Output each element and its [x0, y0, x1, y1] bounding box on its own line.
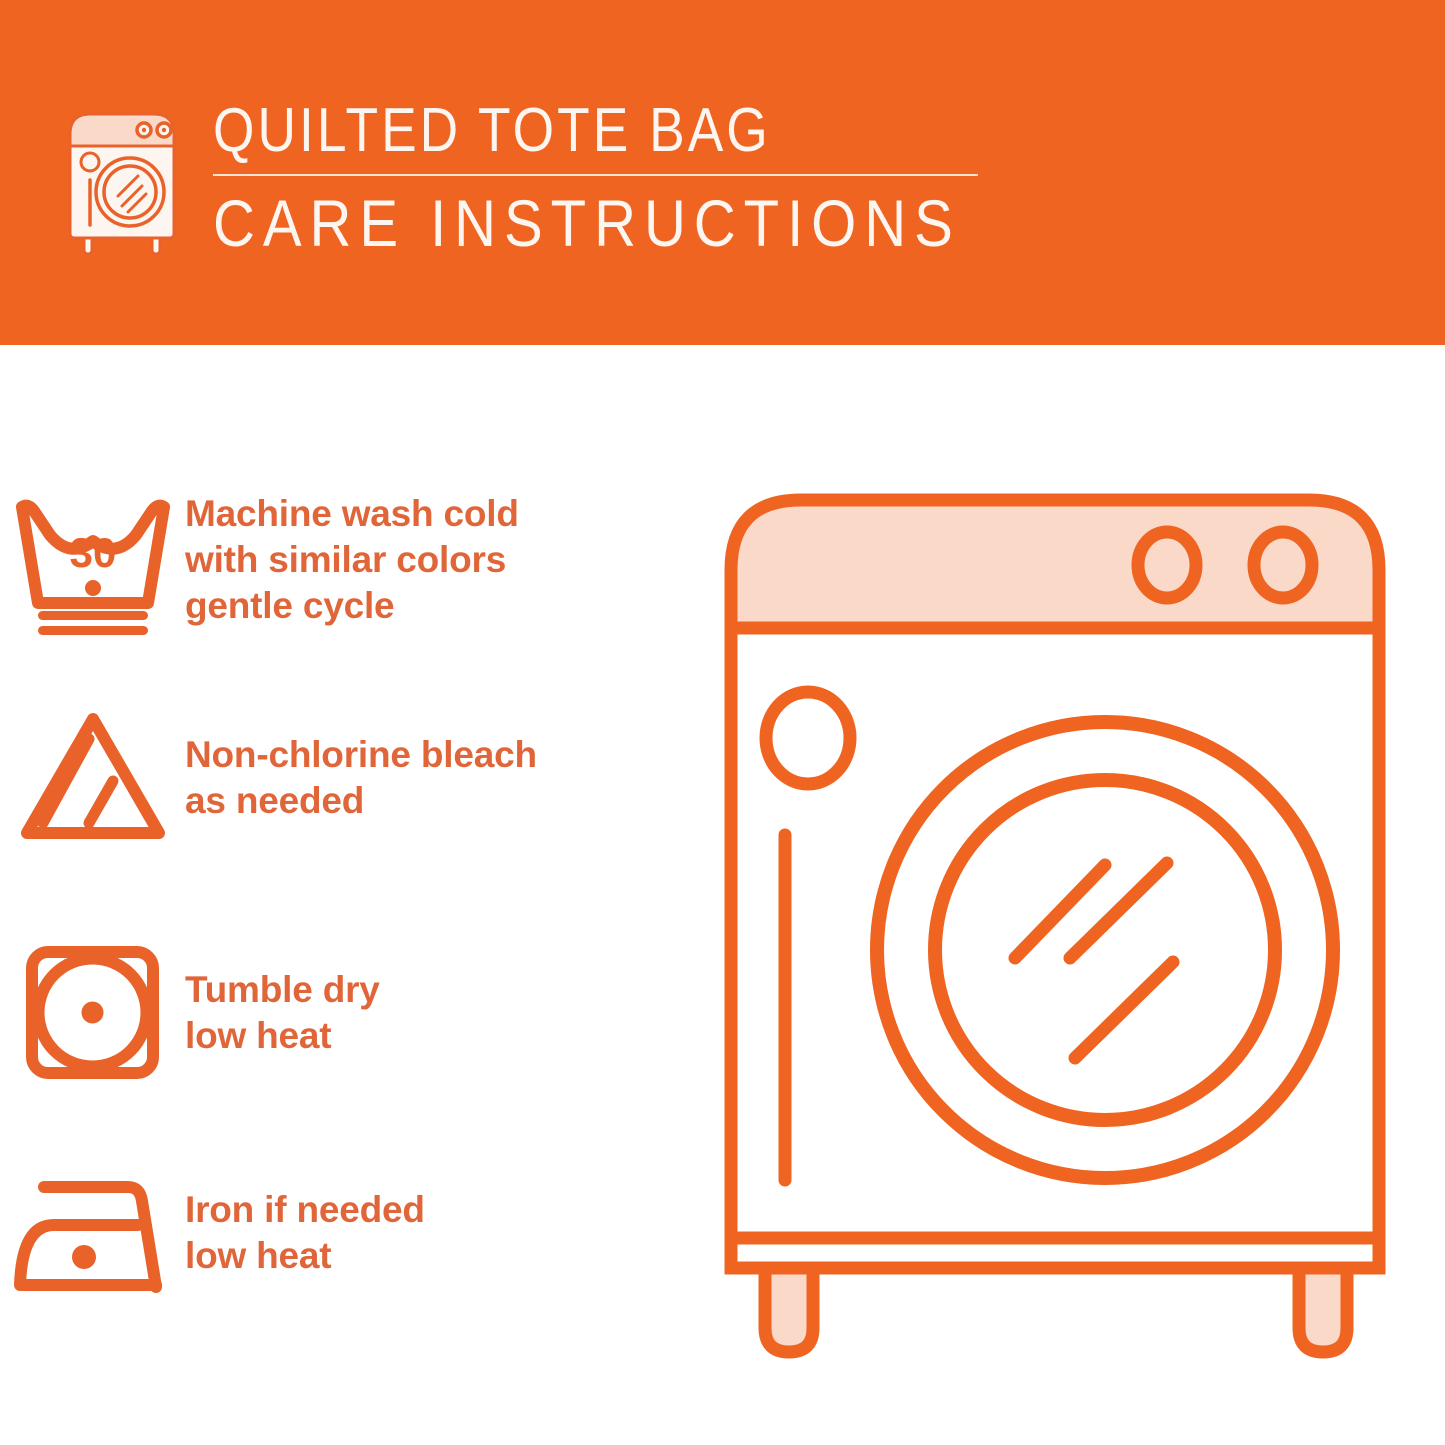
washing-machine-icon — [62, 100, 182, 255]
title-divider — [213, 174, 978, 176]
iron-low-heat-icon — [0, 1165, 185, 1300]
wash-tub-30-gentle-icon: 30 — [0, 485, 185, 635]
instruction-label-wash: Machine wash cold with similar colors ge… — [185, 491, 519, 629]
non-chlorine-bleach-triangle-icon — [0, 705, 185, 850]
instruction-row-wash: 30 Machine wash cold with similar colors… — [0, 485, 700, 635]
instruction-label-bleach: Non-chlorine bleach as needed — [185, 732, 537, 824]
front-load-washing-machine-illustration — [715, 480, 1395, 1370]
page-subtitle: CARE INSTRUCTIONS — [213, 186, 891, 260]
instruction-row-iron: Iron if needed low heat — [0, 1165, 700, 1300]
instruction-label-tumble-dry: Tumble dry low heat — [185, 967, 380, 1059]
care-instructions-page: QUILTED TOTE BAG CARE INSTRUCTIONS 30 — [0, 0, 1445, 1445]
header-title-block: QUILTED TOTE BAG CARE INSTRUCTIONS — [213, 96, 983, 260]
tumble-dry-low-heat-icon — [0, 940, 185, 1085]
instruction-row-tumble-dry: Tumble dry low heat — [0, 940, 700, 1085]
instruction-row-bleach: Non-chlorine bleach as needed — [0, 705, 700, 850]
page-title: QUILTED TOTE BAG — [213, 96, 875, 166]
instructions-list: 30 Machine wash cold with similar colors… — [0, 345, 700, 1445]
svg-text:30: 30 — [69, 529, 116, 576]
header-banner: QUILTED TOTE BAG CARE INSTRUCTIONS — [0, 0, 1445, 345]
instruction-label-iron: Iron if needed low heat — [185, 1187, 425, 1279]
